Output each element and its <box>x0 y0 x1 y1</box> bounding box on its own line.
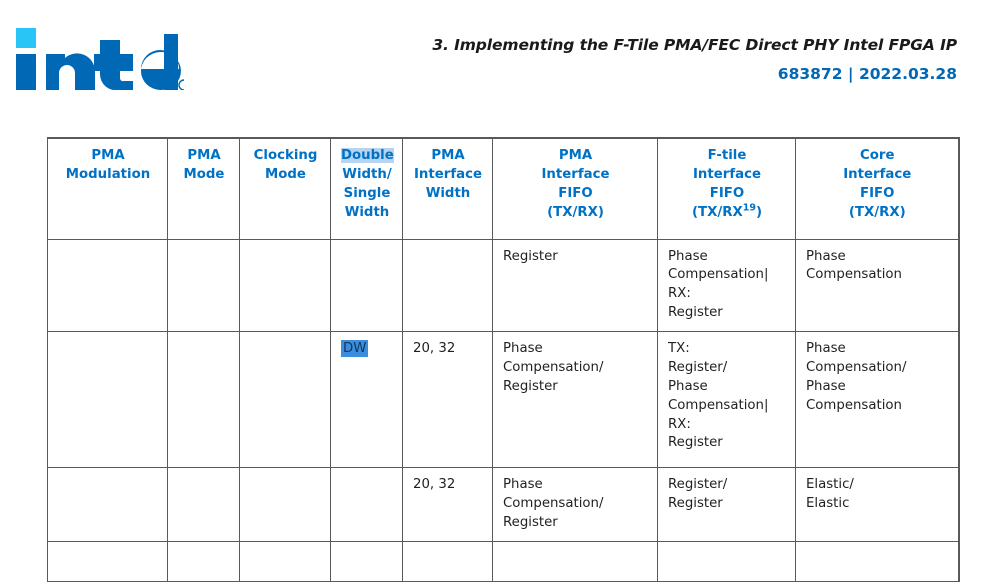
col-header-line: Width <box>341 204 393 223</box>
cell-clocking-mode <box>240 468 331 542</box>
table-row: Register Phase Compensation| RX: Registe… <box>48 239 959 332</box>
cell-pma-modulation <box>48 332 168 468</box>
col-header-core-interface-fifo: Core Interface FIFO (TX/RX) <box>796 138 959 239</box>
table-row: 20, 32 Phase Compensation/ Register Regi… <box>48 468 959 542</box>
col-header-pma-modulation: PMA Modulation <box>48 138 168 239</box>
col-header-line: (TX/RX) <box>806 204 949 223</box>
document-title: 3. Implementing the F-Tile PMA/FEC Direc… <box>432 38 957 54</box>
col-header-clocking-mode: Clocking Mode <box>240 138 331 239</box>
cell-pma-modulation <box>48 541 168 581</box>
table-body: Register Phase Compensation| RX: Registe… <box>48 239 959 581</box>
col-header-line: (TX/RX <box>692 205 743 220</box>
col-header-line: Width/ <box>341 166 393 185</box>
col-header-double-single-width: Double Width/ Single Width <box>331 138 403 239</box>
cell-core-interface-fifo: Phase Compensation <box>796 239 959 332</box>
cell-pma-mode <box>168 541 240 581</box>
text-selection-highlight: DW <box>341 340 368 357</box>
cell-core-interface-fifo: Elastic/ Elastic <box>796 468 959 542</box>
col-header-line: Width <box>413 185 483 204</box>
col-header-pma-mode: PMA Mode <box>168 138 240 239</box>
col-header-line: ) <box>756 205 762 220</box>
spec-table-container: PMA Modulation PMA Mode Clocking Mode Do… <box>47 137 958 582</box>
cell-double-single-width <box>331 468 403 542</box>
table-header: PMA Modulation PMA Mode Clocking Mode Do… <box>48 138 959 239</box>
col-header-line: FIFO <box>503 185 648 204</box>
cell-double-single-width <box>331 541 403 581</box>
col-header-line: Clocking <box>250 147 321 166</box>
cell-double-single-width <box>331 239 403 332</box>
cell-pma-interface-width: 20, 32 <box>403 468 493 542</box>
col-header-pma-interface-width: PMA Interface Width <box>403 138 493 239</box>
cell-pma-interface-fifo: Register <box>493 239 658 332</box>
cell-core-interface-fifo <box>796 541 959 581</box>
cell-pma-interface-fifo: Phase Compensation/ Register <box>493 332 658 468</box>
table-row: DW 20, 32 Phase Compensation/ Register T… <box>48 332 959 468</box>
cell-ftile-interface-fifo: TX: Register/ Phase Compensation| RX: Re… <box>658 332 796 468</box>
col-header-line: PMA <box>58 147 158 166</box>
cell-ftile-interface-fifo: Register/ Register <box>658 468 796 542</box>
header-text-block: 3. Implementing the F-Tile PMA/FEC Direc… <box>432 38 957 82</box>
col-header-line-highlighted: Double <box>341 147 393 166</box>
pma-fifo-spec-table: PMA Modulation PMA Mode Clocking Mode Do… <box>47 137 960 582</box>
col-header-line: PMA <box>413 147 483 166</box>
col-header-line: Interface <box>668 166 786 185</box>
page-header: 3. Implementing the F-Tile PMA/FEC Direc… <box>0 0 998 118</box>
col-header-line: F-tile <box>668 147 786 166</box>
cell-pma-mode <box>168 332 240 468</box>
cell-clocking-mode <box>240 239 331 332</box>
col-header-line: FIFO <box>806 185 949 204</box>
cell-pma-interface-width <box>403 541 493 581</box>
cell-pma-mode <box>168 468 240 542</box>
col-header-line: PMA <box>503 147 648 166</box>
cell-clocking-mode <box>240 541 331 581</box>
col-header-line: Modulation <box>58 166 158 185</box>
cell-pma-interface-width <box>403 239 493 332</box>
col-header-line: Core <box>806 147 949 166</box>
col-header-line: FIFO <box>668 185 786 204</box>
cell-core-interface-fifo: Phase Compensation/ Phase Compensation <box>796 332 959 468</box>
table-row <box>48 541 959 581</box>
col-header-line: Interface <box>413 166 483 185</box>
cell-pma-mode <box>168 239 240 332</box>
cell-pma-modulation <box>48 468 168 542</box>
col-header-line: (TX/RX) <box>503 204 648 223</box>
col-header-line: PMA <box>178 147 230 166</box>
footnote-marker[interactable]: 19 <box>743 202 756 213</box>
intel-logo-mark <box>14 28 184 90</box>
cell-double-single-width: DW <box>331 332 403 468</box>
col-header-line: Single <box>341 185 393 204</box>
cell-pma-interface-fifo <box>493 541 658 581</box>
cell-pma-interface-fifo: Phase Compensation/ Register <box>493 468 658 542</box>
col-header-line: Mode <box>178 166 230 185</box>
cell-ftile-interface-fifo: Phase Compensation| RX: Register <box>658 239 796 332</box>
cell-pma-modulation <box>48 239 168 332</box>
table-header-row: PMA Modulation PMA Mode Clocking Mode Do… <box>48 138 959 239</box>
col-header-pma-interface-fifo: PMA Interface FIFO (TX/RX) <box>493 138 658 239</box>
intel-logo <box>14 28 184 90</box>
cell-clocking-mode <box>240 332 331 468</box>
text-selection-highlight: Double <box>341 148 394 163</box>
col-header-line: Interface <box>503 166 648 185</box>
cell-pma-interface-width: 20, 32 <box>403 332 493 468</box>
cell-ftile-interface-fifo <box>658 541 796 581</box>
col-header-line: Mode <box>250 166 321 185</box>
document-number-date: 683872 | 2022.03.28 <box>432 67 957 83</box>
col-header-ftile-interface-fifo: F-tile Interface FIFO (TX/RX19) <box>658 138 796 239</box>
col-header-line: Interface <box>806 166 949 185</box>
col-header-line-with-footnote: (TX/RX19) <box>668 204 786 223</box>
